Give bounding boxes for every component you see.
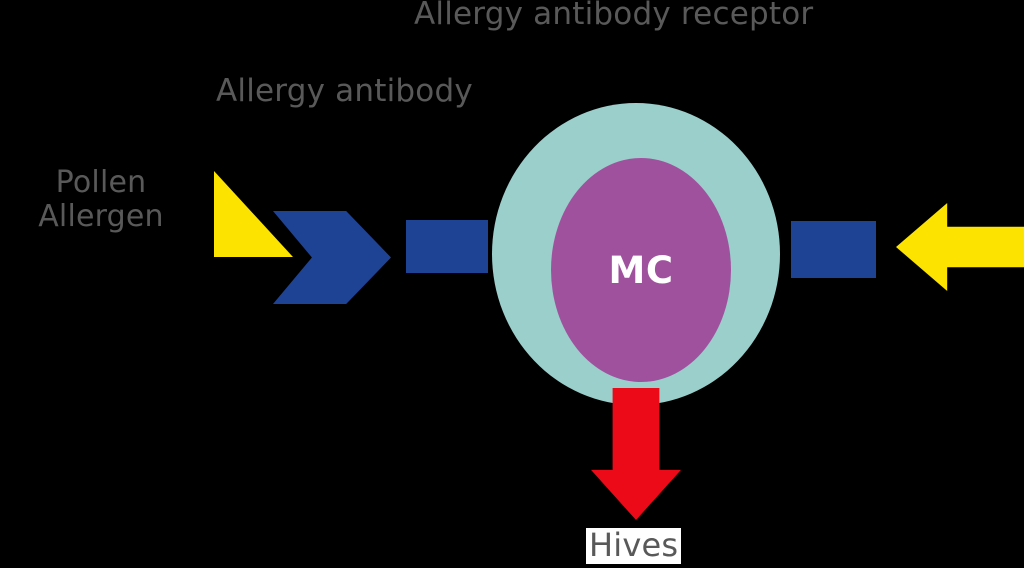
allergen-arrow-left-pointing-icon bbox=[896, 203, 1024, 291]
label-pollen-allergen: Pollen Allergen bbox=[16, 166, 186, 233]
label-pollen-line-1: Pollen bbox=[16, 166, 186, 200]
label-allergy-antibody: Allergy antibody bbox=[216, 74, 473, 109]
label-hives: Hives bbox=[586, 528, 681, 564]
diagram-canvas: Allergy antibody receptor Allergy antibo… bbox=[0, 0, 1024, 568]
mast-cell-label: MC bbox=[551, 158, 731, 382]
hives-down-arrow-icon bbox=[591, 388, 681, 520]
label-pollen-line-2: Allergen bbox=[16, 200, 186, 234]
receptor-block-left-icon bbox=[406, 220, 488, 273]
receptor-block-right-icon bbox=[791, 221, 876, 278]
label-allergy-antibody-receptor: Allergy antibody receptor bbox=[414, 0, 813, 32]
allergy-antibody-chevron-icon bbox=[273, 211, 391, 304]
